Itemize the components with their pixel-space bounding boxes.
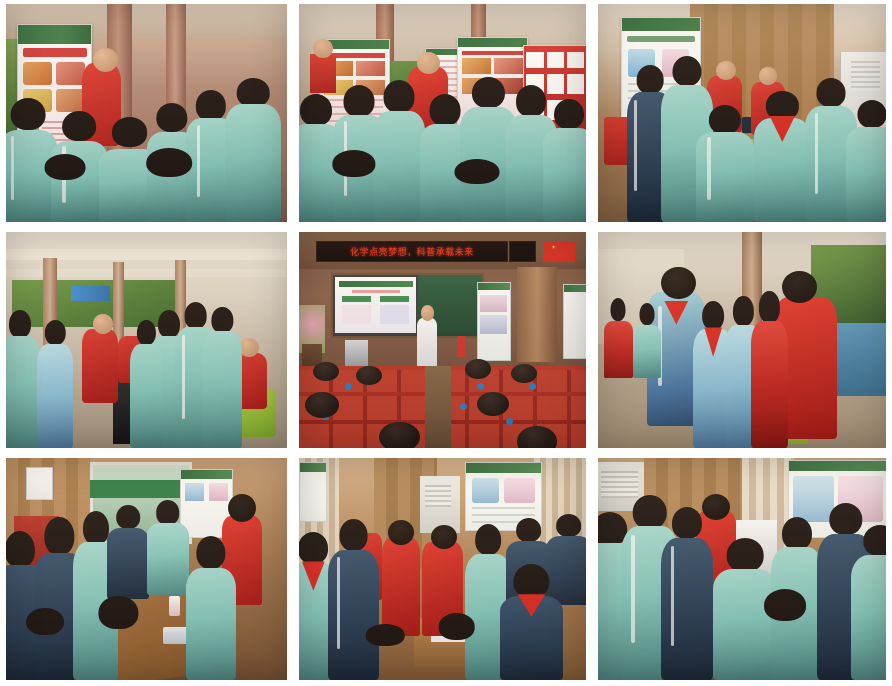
- banner-diagram: [628, 49, 654, 77]
- photo-cell-2[interactable]: Presenter in red polo pointing at food-s…: [293, 0, 592, 228]
- volunteer-red-shirt: [351, 533, 383, 600]
- slide-block: [380, 296, 409, 302]
- banner-figure: [472, 478, 499, 503]
- volunteer-red-shirt: [422, 542, 462, 635]
- pillar: [166, 4, 186, 139]
- wall-sign: [71, 286, 110, 301]
- sunscreen-rollup-banner: [465, 462, 542, 531]
- volunteer-head: [782, 271, 817, 303]
- pillar: [175, 260, 186, 338]
- water-bottle: [191, 388, 205, 423]
- rollup-banner: [299, 462, 327, 522]
- air-conditioner-vent: [601, 471, 638, 498]
- banner-header-band: [622, 18, 700, 31]
- board-panel: [567, 74, 585, 94]
- banner-figure: [504, 478, 535, 503]
- presentation-screen: [333, 275, 417, 335]
- led-side-panel: [509, 241, 537, 262]
- sample-tube: [169, 596, 180, 616]
- volunteer-red-shirt: [774, 297, 837, 440]
- rollup-banner: [477, 282, 511, 362]
- photo-1: Volunteer in red polo explaining a food-…: [6, 4, 287, 222]
- sample-bottle: [471, 605, 485, 627]
- slide-figure: [380, 305, 409, 324]
- board-photo: [494, 58, 523, 74]
- led-banner: 化学点亮梦想，科普承载未来: [316, 241, 507, 262]
- aisle: [425, 366, 451, 448]
- photo-cell-3[interactable]: Two volunteers in red polos demonstratin…: [592, 0, 892, 228]
- sunscreen-rollup-banner: [621, 17, 701, 128]
- poster-photo: [33, 153, 74, 178]
- volunteer-head: [93, 48, 118, 72]
- volunteer-red-shirt: [696, 511, 736, 600]
- volunteer-red-shirt: [751, 82, 786, 134]
- door: [517, 267, 557, 362]
- volunteer-red-shirt: [118, 336, 152, 384]
- audience-head: [465, 359, 491, 378]
- national-flag: [543, 241, 575, 263]
- volunteer-head: [239, 338, 259, 357]
- slide-figure: [342, 305, 371, 324]
- volunteer-red-shirt: [707, 76, 742, 133]
- photo-cell-6[interactable]: Students with red neckerchiefs receiving…: [592, 228, 892, 454]
- banner-figure: [185, 483, 204, 500]
- banner-figure: [793, 476, 834, 521]
- equipment-cart: [113, 379, 192, 444]
- pillar: [43, 258, 57, 362]
- photo-4: Students queueing at a covered walkway w…: [6, 232, 287, 448]
- sample-tray: [163, 627, 197, 645]
- red-neckerchief: [664, 301, 688, 325]
- audience-head: [313, 362, 339, 381]
- person-white-shirt: [736, 520, 776, 578]
- volunteer-red-shirt: [382, 538, 419, 636]
- board-panel: [526, 52, 544, 68]
- volunteer-red-shirt: [222, 516, 261, 605]
- board-panel: [526, 74, 544, 94]
- board-panel: [567, 52, 585, 68]
- board-photo: [462, 58, 491, 74]
- banner-figure: [209, 483, 228, 500]
- banner-diagram: [662, 49, 688, 77]
- slide-title-band: [339, 281, 413, 288]
- photo-cell-7[interactable]: Crowd of students gathered around a long…: [0, 454, 293, 686]
- photo-7: Crowd of students gathered around a long…: [6, 458, 287, 680]
- photo-9: Dense crowd of students, mostly seen fro…: [598, 458, 886, 680]
- volunteer-head: [431, 525, 457, 549]
- photo-cell-1[interactable]: Volunteer in red polo explaining a food-…: [0, 0, 293, 228]
- board-title-band: [462, 51, 523, 56]
- photo-3: Two volunteers in red polos demonstratin…: [598, 4, 886, 222]
- pillar: [742, 232, 762, 366]
- photo-cell-9[interactable]: Dense crowd of students, mostly seen fro…: [592, 454, 892, 686]
- board-text-lines: [326, 99, 384, 128]
- audience-head: [305, 392, 339, 418]
- board-panel: [526, 100, 544, 120]
- banner-header-band: [478, 283, 510, 291]
- board-panel: [547, 100, 565, 120]
- banner-header-band: [564, 285, 586, 292]
- projector-stand: [345, 340, 368, 366]
- sample-cups: [725, 392, 754, 427]
- banner-figure: [480, 295, 507, 312]
- banner-header-band: [466, 463, 541, 473]
- sunscreen-rollup-banner: [788, 460, 886, 537]
- banner-title-band: [627, 36, 695, 43]
- red-stool: [604, 117, 639, 165]
- audience-head: [517, 426, 557, 448]
- seat-number-badge: [529, 383, 536, 390]
- volunteer-red-shirt: [82, 63, 121, 146]
- poster-text-lines: [42, 121, 84, 146]
- red-chair: [14, 516, 59, 578]
- uniform-stripe: [658, 306, 661, 386]
- speaker-head: [421, 305, 434, 320]
- volunteer-red-shirt: [82, 329, 119, 402]
- poster-header-band: [18, 25, 91, 45]
- poster-title-band: [23, 48, 87, 57]
- volunteer-head: [228, 494, 256, 523]
- seat-number-badge: [460, 403, 467, 410]
- banner-header-band: [181, 470, 232, 479]
- banner-text-lines: [472, 507, 535, 523]
- photo-2: Presenter in red polo pointing at food-s…: [299, 4, 586, 222]
- rollup-banner: [563, 284, 586, 359]
- slide-block: [342, 296, 371, 302]
- orange-tray: [725, 366, 760, 392]
- poster-portrait: [23, 121, 39, 146]
- student-foreground: [647, 292, 705, 426]
- banner-figure: [480, 315, 507, 334]
- photo-6: Students with red neckerchiefs receiving…: [598, 232, 886, 448]
- photo-5: 化学点亮梦想，科普承载未来: [299, 232, 586, 448]
- wall-notice: [26, 467, 53, 500]
- led-banner-text: 化学点亮梦想，科普承载未来: [350, 245, 474, 258]
- photo-collage: Volunteer in red polo explaining a food-…: [0, 0, 892, 686]
- board-photo: [494, 78, 523, 94]
- banner-header-band: [789, 461, 886, 471]
- photo-cell-4[interactable]: Students queueing at a covered walkway w…: [0, 228, 293, 454]
- volunteer-head: [388, 520, 414, 544]
- air-conditioner-vent: [425, 485, 451, 507]
- board-panel: [547, 52, 565, 68]
- board-photo: [462, 78, 491, 94]
- volunteer-head: [759, 67, 776, 84]
- photo-8: Volunteers in red polos explaining a sun…: [299, 458, 586, 680]
- seat-number-badge: [506, 418, 513, 425]
- curtain: [534, 458, 586, 587]
- student-head: [661, 267, 696, 299]
- audience-head: [477, 392, 509, 416]
- banner-text-lines: [628, 83, 690, 116]
- board-header-band: [458, 38, 527, 47]
- volunteer-head: [417, 52, 440, 74]
- board-photo: [356, 80, 385, 95]
- photo-cell-5[interactable]: 化学点亮梦想，科普承载未来: [293, 228, 592, 454]
- display-board: [457, 37, 528, 131]
- fire-extinguisher: [457, 336, 466, 358]
- volunteer-red-shirt: [228, 353, 267, 409]
- window-sign: [90, 480, 186, 498]
- volunteer-red-shirt: [408, 67, 448, 128]
- poster-photo: [23, 62, 52, 85]
- slide-subtitle-band: [352, 290, 400, 293]
- volunteer-head: [93, 314, 113, 333]
- board-panel: [547, 74, 565, 94]
- air-conditioner-vent: [851, 61, 880, 92]
- banner-header-band: [300, 463, 326, 471]
- volunteer-red-shirt: [310, 54, 336, 93]
- photo-cell-8[interactable]: Volunteers in red polos explaining a sun…: [293, 454, 592, 686]
- poster-photo: [23, 89, 52, 112]
- audience-head: [379, 422, 419, 448]
- window: [90, 462, 192, 543]
- display-board-red: [523, 45, 586, 139]
- banner-figure: [838, 476, 883, 521]
- board-photo: [356, 61, 385, 76]
